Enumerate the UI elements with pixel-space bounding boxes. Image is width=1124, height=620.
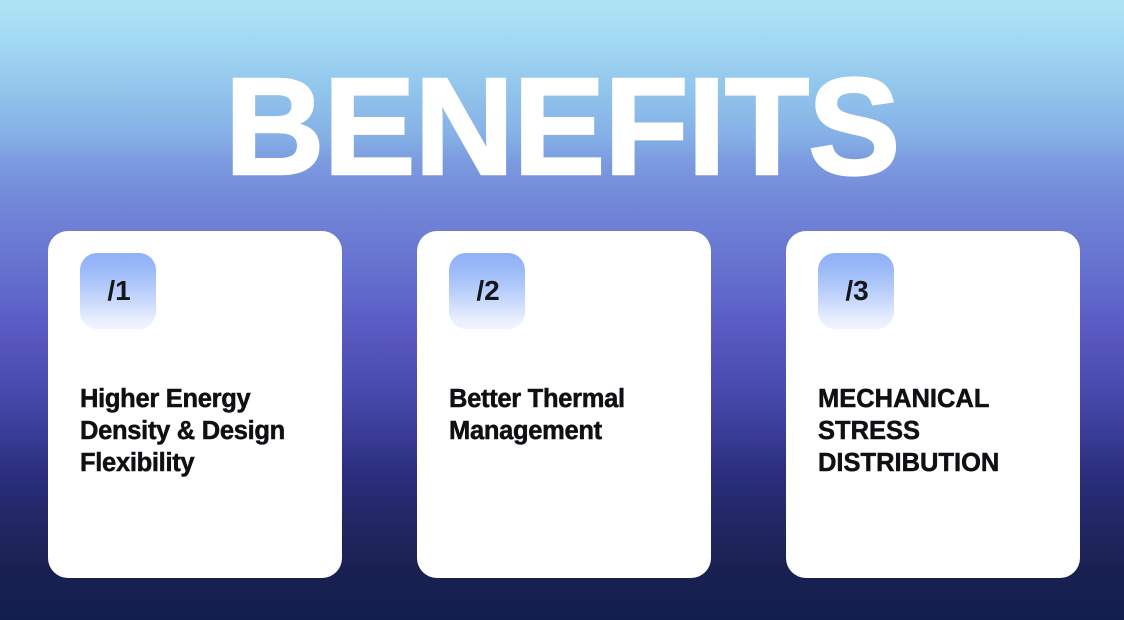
benefit-number-label-1: /1 <box>107 277 130 305</box>
benefit-card-1[interactable]: /1 Higher Energy Density & Design Flexib… <box>48 231 342 578</box>
benefit-title-3: MECHANICAL STRESS DISTRIBUTION <box>818 383 1054 479</box>
benefit-title-2: Better Thermal Management <box>449 383 685 447</box>
benefit-number-label-2: /2 <box>476 277 499 305</box>
benefits-slide: BENEFITS /1 Higher Energy Density & Desi… <box>0 0 1124 620</box>
benefit-card-list: /1 Higher Energy Density & Design Flexib… <box>48 231 1080 578</box>
page-title: BENEFITS <box>0 58 1124 196</box>
benefit-card-2[interactable]: /2 Better Thermal Management <box>417 231 711 578</box>
benefit-card-3[interactable]: /3 MECHANICAL STRESS DISTRIBUTION <box>786 231 1080 578</box>
benefit-number-label-3: /3 <box>845 277 868 305</box>
benefit-number-badge-1: /1 <box>80 253 156 329</box>
benefit-number-badge-3: /3 <box>818 253 894 329</box>
benefit-title-1: Higher Energy Density & Design Flexibili… <box>80 383 316 479</box>
benefit-number-badge-2: /2 <box>449 253 525 329</box>
